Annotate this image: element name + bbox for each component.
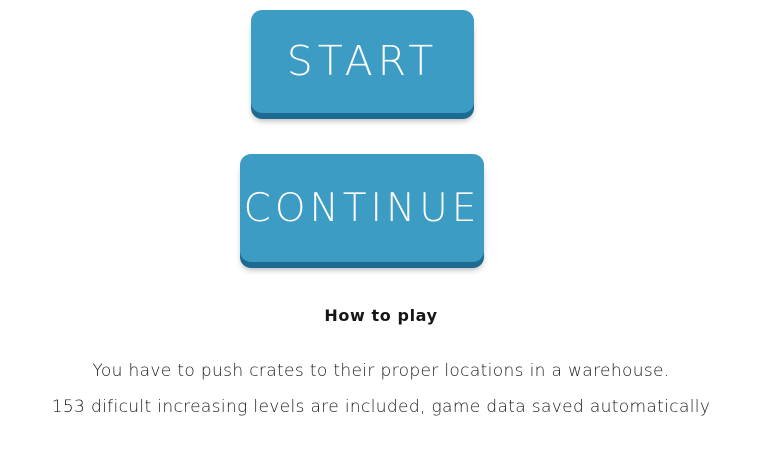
continue-button[interactable]: CONTINUE [240, 154, 484, 262]
main-menu-screen: START CONTINUE How to play You have to p… [0, 0, 762, 453]
how-to-play-description: You have to push crates to their proper … [0, 353, 762, 425]
how-to-play-line-1: You have to push crates to their proper … [0, 353, 762, 389]
how-to-play-heading: How to play [0, 306, 762, 325]
how-to-play-line-2: 153 dificult increasing levels are inclu… [0, 389, 762, 425]
start-button[interactable]: START [251, 10, 474, 113]
